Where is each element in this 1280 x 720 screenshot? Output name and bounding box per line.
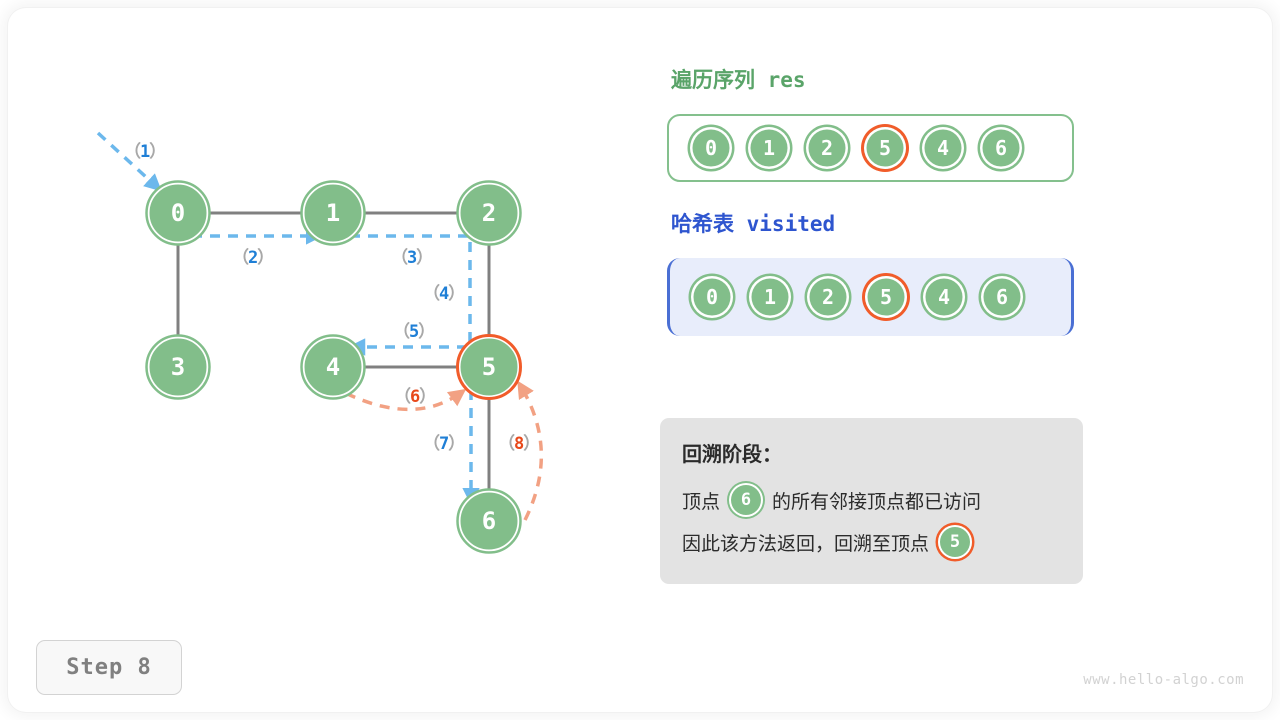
svg-text:5: 5 — [482, 353, 496, 381]
explanation-chip-5-highlighted: 5 — [938, 525, 972, 559]
res-chip-label: 0 — [705, 138, 717, 158]
explanation-line-2-before: 因此该方法返回，回溯至顶点 — [682, 529, 929, 556]
visited-chip-1[interactable]: 1 — [749, 276, 791, 318]
visited-chip-label: 0 — [706, 287, 718, 307]
visited-chip-5[interactable]: 6 — [981, 276, 1023, 318]
res-chip-label: 5 — [879, 138, 891, 158]
graph-diagram: 0 1 2 3 — [0, 0, 640, 720]
res-chip-label: 1 — [763, 138, 775, 158]
graph-node-6[interactable]: 6 — [458, 490, 521, 553]
visited-chip-label: 5 — [880, 287, 892, 307]
graph-step-label-1: （1） — [124, 137, 165, 162]
visited-panel-title: 哈希表 visited — [671, 208, 835, 238]
res-panel-title: 遍历序列 res — [671, 64, 806, 94]
visited-chip-label: 4 — [938, 287, 950, 307]
graph-node-5[interactable]: 5 — [458, 336, 521, 399]
visited-set-box: 0 1 2 5 4 6 — [667, 258, 1074, 336]
graph-step-label-8: （8） — [498, 429, 539, 454]
graph-step-label-3: （3） — [391, 243, 432, 268]
svg-text:3: 3 — [171, 353, 185, 381]
explanation-chip-label: 6 — [741, 492, 751, 509]
explanation-line-1-after: 的所有邻接顶点都已访问 — [772, 487, 981, 514]
svg-text:6: 6 — [482, 507, 496, 535]
screenshot-root: 0 1 2 3 — [0, 0, 1280, 720]
res-chip-3-highlighted[interactable]: 5 — [864, 127, 906, 169]
svg-text:0: 0 — [171, 199, 185, 227]
visited-chip-label: 6 — [996, 287, 1008, 307]
graph-step-label-4: （4） — [423, 279, 464, 304]
graph-node-3[interactable]: 3 — [147, 336, 210, 399]
graph-node-1[interactable]: 1 — [302, 182, 365, 245]
graph-node-4[interactable]: 4 — [302, 336, 365, 399]
visited-chip-label: 1 — [764, 287, 776, 307]
res-chip-2[interactable]: 2 — [806, 127, 848, 169]
explanation-chip-6: 6 — [729, 483, 763, 517]
svg-text:1: 1 — [326, 199, 340, 227]
svg-text:4: 4 — [326, 353, 340, 381]
explanation-box: 回溯阶段： 顶点 6 的所有邻接顶点都已访问 因此该方法返回，回溯至顶点 5 — [660, 418, 1083, 584]
visited-chip-4[interactable]: 4 — [923, 276, 965, 318]
res-chip-1[interactable]: 1 — [748, 127, 790, 169]
graph-node-0[interactable]: 0 — [147, 182, 210, 245]
graph-step-label-5: （5） — [393, 317, 434, 342]
graph-step-label-7: （7） — [423, 429, 464, 454]
visited-chip-2[interactable]: 2 — [807, 276, 849, 318]
visited-chip-3-highlighted[interactable]: 5 — [865, 276, 907, 318]
explanation-chip-label: 5 — [950, 534, 960, 551]
visited-chip-label: 2 — [822, 287, 834, 307]
site-watermark: www.hello-algo.com — [1083, 672, 1244, 688]
svg-text:2: 2 — [482, 199, 496, 227]
diagram-stage: 0 1 2 3 — [0, 0, 1280, 720]
graph-step-label-2: （2） — [232, 243, 273, 268]
explanation-heading: 回溯阶段： — [682, 438, 1083, 467]
res-chip-label: 4 — [937, 138, 949, 158]
res-chip-label: 6 — [995, 138, 1007, 158]
explanation-line-1-before: 顶点 — [682, 487, 720, 514]
graph-step-label-6: （6） — [394, 382, 435, 407]
res-chip-4[interactable]: 4 — [922, 127, 964, 169]
res-chip-0[interactable]: 0 — [690, 127, 732, 169]
visited-chip-0[interactable]: 0 — [691, 276, 733, 318]
graph-node-2[interactable]: 2 — [458, 182, 521, 245]
res-chip-label: 2 — [821, 138, 833, 158]
step-badge: Step 8 — [36, 640, 182, 695]
explanation-line-1: 顶点 6 的所有邻接顶点都已访问 — [682, 479, 1083, 521]
res-sequence-box: 0 1 2 5 4 6 — [667, 114, 1074, 182]
res-chip-5[interactable]: 6 — [980, 127, 1022, 169]
step-badge-label: Step 8 — [66, 655, 151, 680]
explanation-line-2: 因此该方法返回，回溯至顶点 5 — [682, 521, 1083, 563]
